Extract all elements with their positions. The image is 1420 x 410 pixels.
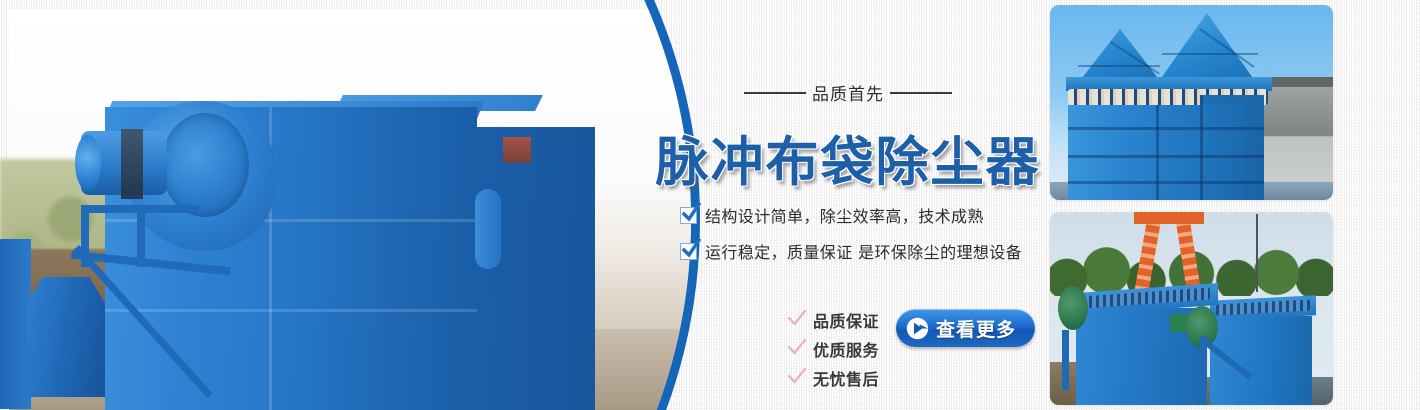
list-item: 品质保证 [788,308,879,332]
checkbox-check-icon [680,207,697,224]
thumb2-utility-pole [1256,214,1258,292]
hero-motor-cap [75,135,101,191]
list-item-label: 优质服务 [813,337,879,361]
thumb1-body-band [1068,127,1264,130]
page-title: 脉冲布袋除尘器 [648,120,1048,196]
thumb1-body-band [1068,181,1264,184]
list-item: 结构设计简单，除尘效率高，技术成熟 [680,203,1022,227]
hero-fan-hub [161,113,249,217]
hero-photo-circle-frame [0,0,700,410]
hero-body-seam [105,309,477,312]
hero-motor-band [121,129,143,199]
checkbox-check-icon [680,243,697,260]
eyebrow-rule-right [890,92,952,94]
list-item: 无忧售后 [788,366,879,390]
thumb1-body-band [1068,155,1264,158]
thumb1-roof-rib [1162,53,1258,55]
eyebrow-rule-left [744,92,806,94]
list-item: 运行稳定，质量保证 是环保除尘的理想设备 [680,239,1022,263]
thumb2-crane-head [1134,212,1204,224]
play-arrow-circle-icon [906,317,929,340]
hero-collector-right-face [475,127,595,410]
feature-list: 品质保证 优质服务 无忧售后 [788,308,879,390]
check-icon [788,368,806,389]
thumb1-body-rib [1156,105,1159,200]
eyebrow-text: 品质首先 [812,80,884,105]
check-icon [788,310,806,331]
list-item-label: 品质保证 [813,308,879,332]
hero-duct [475,189,501,269]
thumb1-body-rib [1200,95,1203,200]
list-item-label: 运行稳定，质量保证 是环保除尘的理想设备 [705,239,1022,263]
thumb2-fan-housing [1058,286,1088,330]
thumb-photo-baghouse-twin-peak[interactable] [1050,5,1333,200]
promo-banner: 品质首先 脉冲布袋除尘器 结构设计简单，除尘效率高，技术成熟 [0,0,1420,410]
check-icon [788,339,806,360]
list-item-label: 结构设计简单，除尘效率高，技术成熟 [705,203,984,227]
hero-chimney [503,137,531,163]
hero-side-hopper [0,239,31,409]
hero-photo-dust-collector [9,9,700,410]
hero-hopper [27,277,105,397]
eyebrow-heading: 品质首先 [648,80,1048,105]
center-content: 品质首先 脉冲布袋除尘器 结构设计简单，除尘效率高，技术成熟 [648,0,1048,410]
thumb2-support-leg [1062,330,1069,390]
list-item: 优质服务 [788,337,879,361]
thumb-photo-site-install[interactable] [1050,212,1333,405]
thumb1-roof-rib [1078,65,1160,67]
list-item-label: 无忧售后 [813,366,879,390]
view-more-label: 查看更多 [936,315,1016,342]
view-more-button[interactable]: 查看更多 [896,309,1035,347]
bullet-list: 结构设计简单，除尘效率高，技术成熟 运行稳定，质量保证 是环保除尘的理想设备 [680,203,1022,263]
